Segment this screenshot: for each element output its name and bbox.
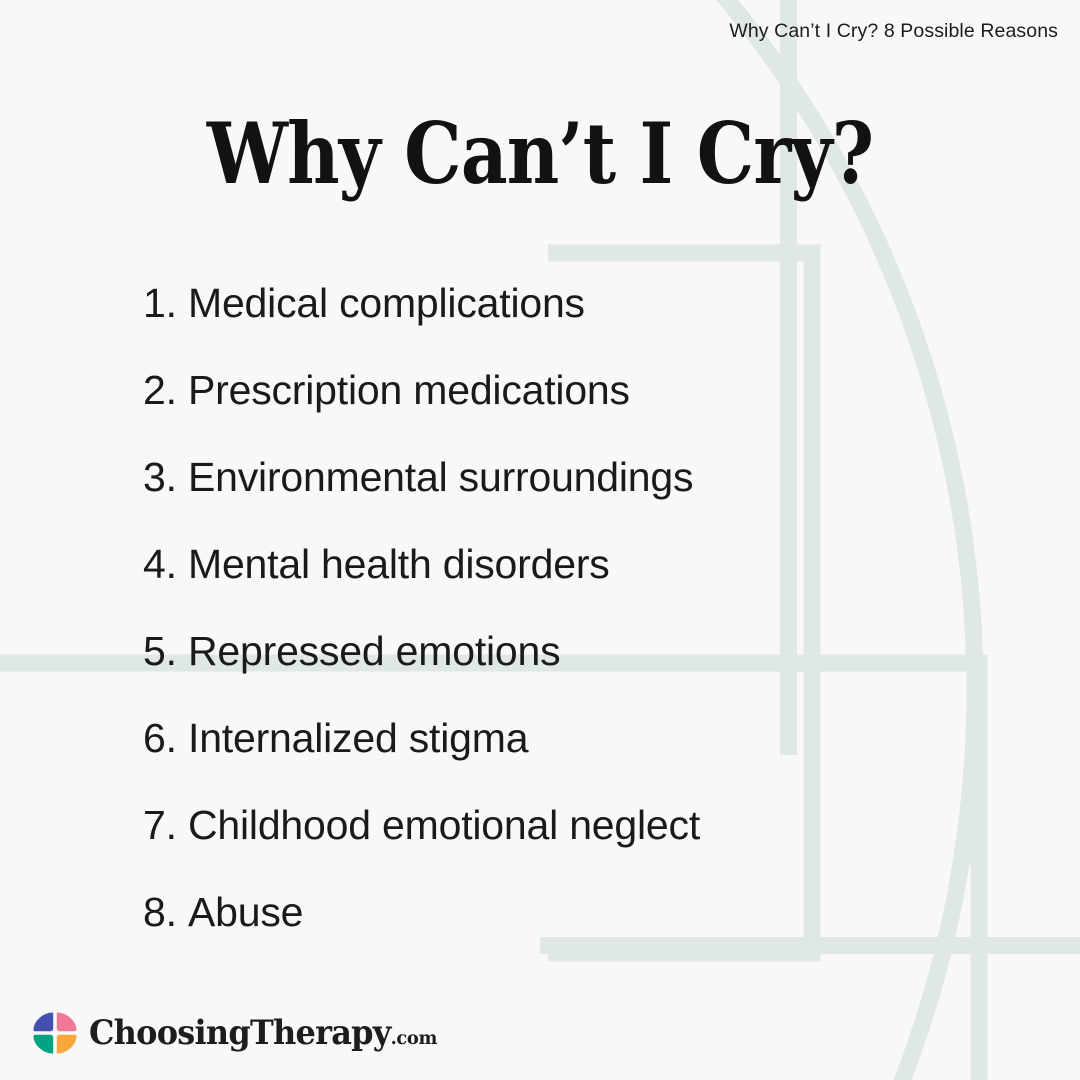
list-item: 6. Internalized stigma	[143, 715, 1003, 802]
list-item-number: 3.	[143, 454, 188, 501]
list-item-label: Repressed emotions	[188, 628, 560, 675]
list-item: 3. Environmental surroundings	[143, 454, 1003, 541]
logo-tld: .com	[391, 1027, 437, 1049]
list-item-label: Medical complications	[188, 280, 585, 327]
infographic-canvas: Why Can’t I Cry? 8 Possible Reasons Why …	[0, 0, 1080, 1080]
list-item-number: 4.	[143, 541, 188, 588]
list-item-number: 6.	[143, 715, 188, 762]
list-item-number: 8.	[143, 889, 188, 936]
list-item: 7. Childhood emotional neglect	[143, 802, 1003, 889]
list-item-label: Prescription medications	[188, 367, 630, 414]
list-item-label: Mental health disorders	[188, 541, 610, 588]
list-item-label: Internalized stigma	[188, 715, 528, 762]
reasons-list: 1. Medical complications 2. Prescription…	[143, 280, 1003, 976]
list-item: 4. Mental health disorders	[143, 541, 1003, 628]
list-item-label: Abuse	[188, 889, 303, 936]
list-item-number: 7.	[143, 802, 188, 849]
logo-name: ChoosingTherapy	[89, 1013, 391, 1053]
page-title: Why Can’t I Cry?	[76, 110, 1005, 198]
list-item: 5. Repressed emotions	[143, 628, 1003, 715]
list-item: 1. Medical complications	[143, 280, 1003, 367]
list-item: 8. Abuse	[143, 889, 1003, 976]
list-item: 2. Prescription medications	[143, 367, 1003, 454]
list-item-number: 5.	[143, 628, 188, 675]
pinwheel-logo-icon	[30, 1008, 80, 1058]
list-item-number: 1.	[143, 280, 188, 327]
list-item-label: Childhood emotional neglect	[188, 802, 700, 849]
logo[interactable]: ChoosingTherapy.com	[30, 1008, 459, 1058]
header-label: Why Can’t I Cry? 8 Possible Reasons	[729, 20, 1058, 43]
logo-wordmark: ChoosingTherapy.com	[89, 1013, 437, 1053]
list-item-number: 2.	[143, 367, 188, 414]
list-item-label: Environmental surroundings	[188, 454, 693, 501]
